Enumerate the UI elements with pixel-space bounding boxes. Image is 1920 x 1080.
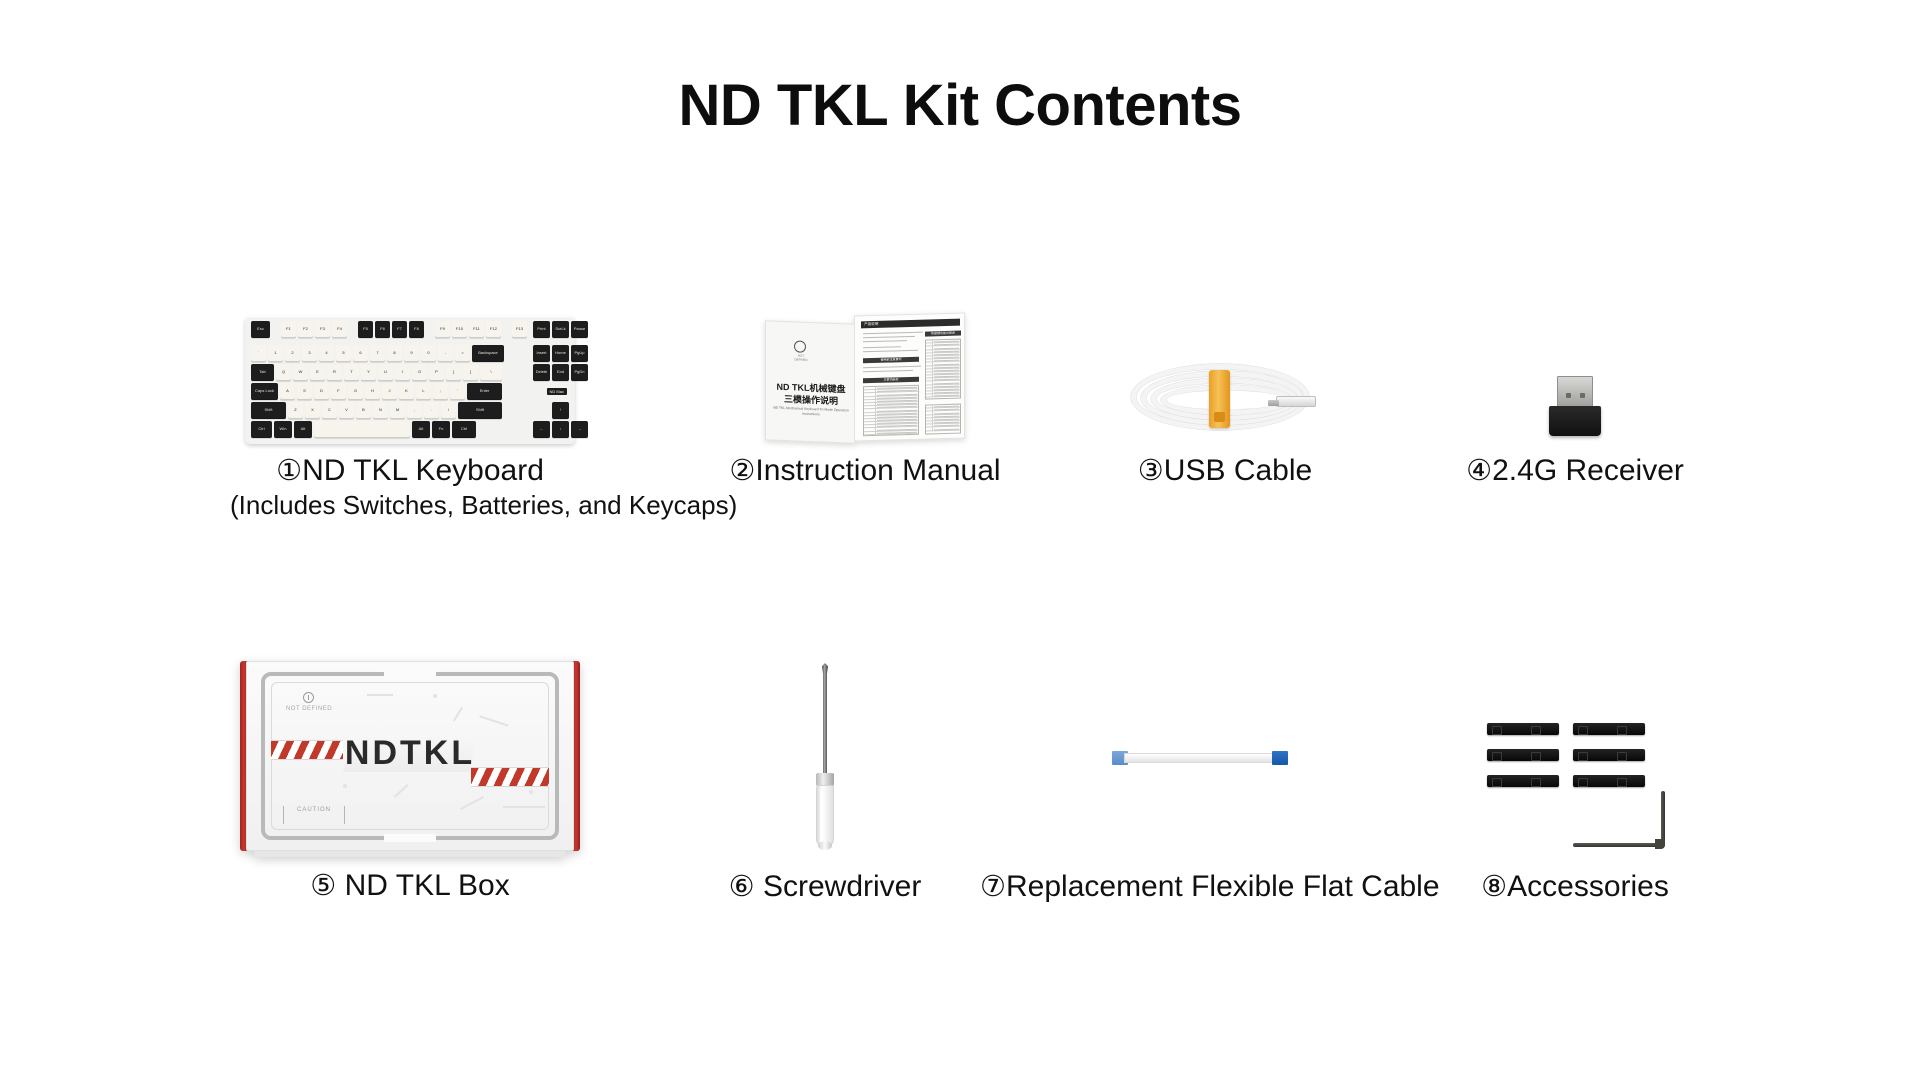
item-index: ③	[1138, 455, 1164, 487]
item-label: Screwdriver	[763, 870, 921, 903]
product-box-illustration: NDTKL NOT DEFINED CAUTION	[240, 661, 580, 851]
item-index: ⑤	[310, 870, 336, 902]
manual-table-left	[863, 385, 919, 437]
keyboard-main-cluster: Esc F1F2 F3F4 F5F6 F7F8 F9F10 F11F12 F13	[251, 321, 527, 438]
cable-velcro-tie	[1209, 370, 1230, 428]
keyboard-number-row: `1 23 45 67 89 0- =Backspace	[251, 345, 527, 362]
item-nd-tkl-box[interactable]: NDTKL NOT DEFINED CAUTION ⑤ ND TKL Box	[235, 655, 585, 903]
item-nd-tkl-keyboard[interactable]: Esc F1F2 F3F4 F5F6 F7F8 F9F10 F11F12 F13	[230, 312, 590, 521]
item-index: ①	[276, 455, 302, 487]
hex-key-corner	[1655, 839, 1665, 849]
screwdriver-illustration	[805, 665, 845, 851]
manual-inner-header: 产品说明	[861, 319, 960, 329]
item-label: USB Cable	[1164, 454, 1312, 487]
keyboard-nav-cluster: PrintScrLkPause InsertHomePgUp DeleteEnd…	[533, 321, 588, 438]
item-caption: ⑧Accessories	[1440, 870, 1710, 904]
manual-logo-icon	[794, 340, 806, 352]
box-bottom-lip	[254, 851, 566, 857]
item-label: Accessories	[1507, 870, 1669, 903]
keyboard-badge: ND Mac	[547, 388, 567, 395]
item-label: ND TKL Keyboard	[302, 454, 544, 487]
keyboard-q-row: Tab QW ER TY UI OP [] \	[251, 364, 527, 381]
manual-cover-page: NOTDEFINED ND TKL机械键盘 三模操作说明 ND TKL Mech…	[765, 320, 855, 443]
item-caption: ⑥ Screwdriver	[705, 870, 945, 904]
manual-image: 产品说明 使用前注意事项 主要功能表	[715, 312, 1015, 444]
item-caption: ⑦Replacement Flexible Flat Cable	[980, 870, 1420, 904]
receiver-usb-contact	[1557, 376, 1593, 410]
item-caption: ④2.4G Receiver	[1440, 454, 1710, 488]
manual-illustration: 产品说明 使用前注意事项 主要功能表	[765, 314, 965, 444]
manual-section-2: 主要功能表	[863, 377, 919, 384]
usb-receiver-illustration	[1547, 372, 1603, 444]
item-caption: ②Instruction Manual	[715, 454, 1015, 488]
ffc-end-right	[1272, 751, 1288, 765]
manual-logo-caption: NOTDEFINED	[784, 354, 818, 363]
accessories-image	[1440, 648, 1710, 851]
item-accessories[interactable]: ⑧Accessories	[1440, 648, 1710, 904]
manual-section-3: 快捷键功能对照表	[925, 331, 961, 337]
box-face: NDTKL NOT DEFINED CAUTION	[246, 661, 574, 851]
item-caption: ⑤ ND TKL Box	[235, 869, 585, 903]
manual-cover-subtitle: ND TKL Mechanical Keyboard Tri-Mode Oper…	[772, 406, 850, 419]
hex-key-long-arm	[1573, 843, 1657, 847]
manual-table-right-1	[925, 339, 961, 400]
item-usb-cable[interactable]: ③USB Cable	[1090, 312, 1360, 488]
item-flexible-flat-cable[interactable]: ⑦Replacement Flexible Flat Cable	[980, 648, 1420, 904]
box-caution-badge: CAUTION	[283, 806, 345, 824]
keyboard-z-row: Shift ZX CV BN M, ./ Shift	[251, 402, 527, 419]
item-sublabel: (Includes Switches, Batteries, and Keyca…	[230, 491, 590, 521]
item-caption: ①ND TKL Keyboard (Includes Switches, Bat…	[230, 454, 590, 521]
item-index: ⑥	[729, 871, 755, 903]
screwdriver-end-cap	[818, 841, 832, 850]
ffc-illustration	[1112, 749, 1288, 767]
item-index: ④	[1466, 455, 1492, 487]
keyboard-image: Esc F1F2 F3F4 F5F6 F7F8 F9F10 F11F12 F13	[230, 312, 590, 444]
screwdriver-image	[705, 648, 945, 851]
manual-section-1: 使用前注意事项	[863, 357, 919, 364]
item-index: ⑧	[1481, 871, 1507, 903]
item-label: ND TKL Box	[345, 869, 510, 902]
item-label: Instruction Manual	[755, 454, 1000, 487]
box-logo: NDTKL	[247, 734, 573, 773]
items-grid: Esc F1F2 F3F4 F5F6 F7F8 F9F10 F11F12 F13	[0, 0, 1920, 1080]
screwdriver-shaft	[823, 665, 827, 777]
item-label: 2.4G Receiver	[1492, 454, 1684, 487]
box-caution-text: CAUTION	[284, 807, 344, 813]
item-index: ⑦	[980, 871, 1006, 903]
rubber-foot	[1487, 775, 1559, 787]
usb-cable-image	[1090, 312, 1360, 444]
receiver-image	[1440, 312, 1710, 444]
receiver-body	[1549, 406, 1601, 436]
ffc-ribbon	[1124, 753, 1276, 763]
manual-table-right-2	[925, 404, 961, 435]
keyboard-a-row: Caps Lock AS DF GH JK L; 'Enter	[251, 383, 527, 400]
item-label: Replacement Flexible Flat Cable	[1006, 870, 1440, 903]
manual-cover-title: ND TKL机械键盘 三模操作说明	[772, 382, 850, 408]
tkl-keyboard-illustration: Esc F1F2 F3F4 F5F6 F7F8 F9F10 F11F12 F13	[245, 316, 575, 444]
poster-root: ND TKL Kit Contents Esc F1F2 F3F4 F5F6 F…	[0, 0, 1920, 1080]
item-index: ②	[729, 455, 755, 487]
box-badge-text: NOT DEFINED	[281, 706, 337, 712]
item-instruction-manual[interactable]: 产品说明 使用前注意事项 主要功能表	[715, 312, 1015, 488]
usb-cable-illustration	[1123, 358, 1328, 444]
rubber-foot	[1573, 749, 1645, 761]
box-image: NDTKL NOT DEFINED CAUTION	[235, 655, 585, 851]
item-24g-receiver[interactable]: ④2.4G Receiver	[1440, 312, 1710, 488]
item-caption: ③USB Cable	[1090, 454, 1360, 488]
usb-connector	[1276, 396, 1316, 407]
keyboard-bottom-row: CtrlWin Alt AltFn Ctrl	[251, 421, 527, 438]
item-screwdriver[interactable]: ⑥ Screwdriver	[705, 648, 945, 904]
manual-inner-page: 产品说明 使用前注意事项 主要功能表	[854, 312, 965, 441]
ffc-image	[980, 648, 1420, 851]
box-power-icon	[303, 692, 314, 703]
keyboard-function-row: Esc F1F2 F3F4 F5F6 F7F8 F9F10 F11F12 F13	[251, 321, 527, 338]
rubber-foot	[1487, 723, 1559, 735]
rubber-foot	[1573, 723, 1645, 735]
screwdriver-handle	[816, 785, 834, 847]
accessories-illustration	[1487, 723, 1663, 843]
rubber-foot	[1487, 749, 1559, 761]
hex-key	[1573, 771, 1665, 849]
